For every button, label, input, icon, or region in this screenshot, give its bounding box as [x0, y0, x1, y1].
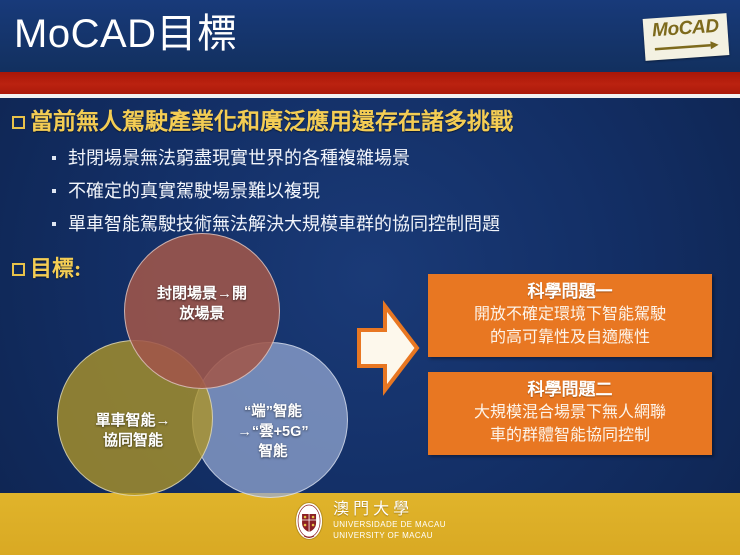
science-question-box-1: 科學問題一 開放不確定環境下智能駕駛 的高可靠性及自適應性	[428, 274, 712, 357]
venn-circle-right-label: “端”智能 →“雲+5G” 智能	[223, 402, 322, 462]
dot-bullet-icon	[52, 222, 56, 226]
list-item: 封閉場景無法窮盡現實世界的各種複雜場景	[52, 146, 652, 170]
mocad-logo: MoCAD	[643, 13, 730, 61]
science-question-box-2: 科學問題二 大規模混合場景下無人網聯 車的群體智能協同控制	[428, 372, 712, 455]
university-logo: 澳門大學 UNIVERSIDADE DE MACAU UNIVERSITY OF…	[294, 501, 446, 541]
university-name-en: UNIVERSITY OF MACAU	[333, 530, 446, 541]
list-item-label: 封閉場景無法窮盡現實世界的各種複雜場景	[68, 146, 410, 170]
venn-circle-top: 封閉場景→開 放場景	[124, 233, 280, 389]
slide-footer: 澳門大學 UNIVERSIDADE DE MACAU UNIVERSITY OF…	[0, 493, 740, 555]
square-bullet-icon	[12, 263, 25, 276]
science-question-box-2-title: 科學問題二	[436, 378, 704, 401]
science-question-box-1-body: 開放不確定環境下智能駕駛 的高可靠性及自適應性	[436, 303, 704, 349]
slide-header: MoCAD目標 MoCAD	[0, 0, 740, 72]
section-heading-text: 當前無人駕駛產業化和廣泛應用還存在諸多挑戰	[30, 108, 513, 136]
science-question-box-1-title: 科學問題一	[436, 280, 704, 303]
header-red-band	[0, 72, 740, 94]
square-bullet-icon	[12, 116, 25, 129]
page-title: MoCAD目標	[14, 6, 238, 62]
list-item-label: 不確定的真實駕駛場景難以複現	[68, 179, 320, 203]
university-name-block: 澳門大學 UNIVERSIDADE DE MACAU UNIVERSITY OF…	[333, 501, 446, 541]
science-question-box-2-body: 大規模混合場景下無人網聯 車的群體智能協同控制	[436, 401, 704, 447]
section-heading: 當前無人駕駛產業化和廣泛應用還存在諸多挑戰	[12, 108, 513, 136]
university-crest-icon	[294, 501, 324, 541]
list-item: 不確定的真實駕駛場景難以複現	[52, 179, 652, 203]
dot-bullet-icon	[52, 189, 56, 193]
dot-bullet-icon	[52, 156, 56, 160]
venn-circle-top-label: 封閉場景→開 放場景	[143, 284, 261, 324]
venn-diagram: “端”智能 →“雲+5G” 智能 單車智能→ 協同智能 封閉場景→開 放場景	[45, 228, 360, 493]
slide: MoCAD目標 MoCAD 當前無人駕駛產業化和廣泛應用還存在諸多挑戰 封閉場景…	[0, 0, 740, 555]
university-name-cn: 澳門大學	[333, 501, 446, 519]
venn-circle-left-label: 單車智能→ 協同智能	[81, 411, 184, 451]
block-right-arrow-icon	[355, 300, 421, 396]
university-name-pt: UNIVERSIDADE DE MACAU	[333, 519, 446, 530]
